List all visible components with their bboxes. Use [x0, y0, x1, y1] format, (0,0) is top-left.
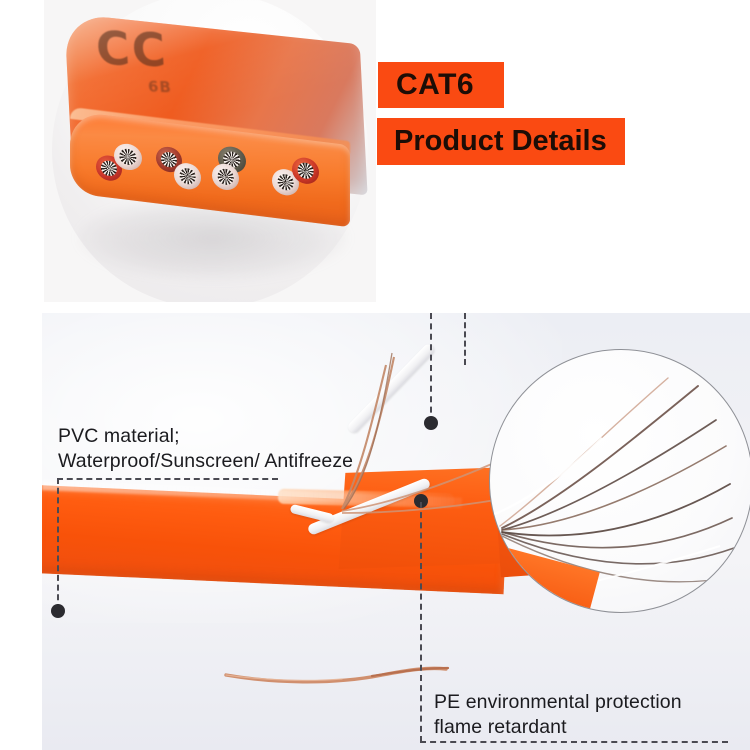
callout-pvc-line-vertical: [57, 478, 59, 610]
conductor-core: [119, 148, 136, 166]
callout-pe-line-vertical: [420, 502, 422, 742]
callout-copper-line-vertical: [430, 313, 432, 423]
conductor-core: [161, 151, 177, 168]
badge-product-details: Product Details: [377, 118, 625, 165]
copper-strand-sample: [222, 663, 452, 689]
cable-brand-subprint: 6B: [147, 78, 172, 97]
badge-cat6: CAT6: [378, 62, 504, 108]
conductor-core: [101, 159, 117, 176]
conductor-core: [217, 168, 234, 186]
top-photo-panel: CC 6B: [44, 0, 376, 302]
conductor-core: [277, 173, 294, 191]
magnifier-circle: [489, 349, 750, 613]
bottom-photo-panel: [42, 313, 750, 750]
callout-pvc-line-horizontal: [57, 478, 278, 480]
conductor-2b: [174, 162, 201, 191]
callout-copper-dot: [424, 416, 438, 430]
callout-pvc-material-text: PVC material; Waterproof/Sunscreen/ Anti…: [58, 424, 353, 474]
cable-macro-photo: CC 6B: [44, 0, 376, 302]
badge-product-details-label: Product Details: [394, 125, 607, 158]
callout-pe-line-horizontal: [420, 741, 728, 743]
badge-cat6-label: CAT6: [396, 68, 474, 102]
product-detail-image: CC 6B: [0, 0, 750, 750]
conductor-core: [297, 162, 314, 180]
conductor-core: [179, 167, 196, 185]
callout-pe-flame-retardant-text: PE environmental protection flame retard…: [434, 690, 682, 740]
magnifier-guide-line: [464, 313, 466, 365]
cable-brand-print: CC: [94, 21, 169, 78]
callout-pvc-dot: [51, 604, 65, 618]
